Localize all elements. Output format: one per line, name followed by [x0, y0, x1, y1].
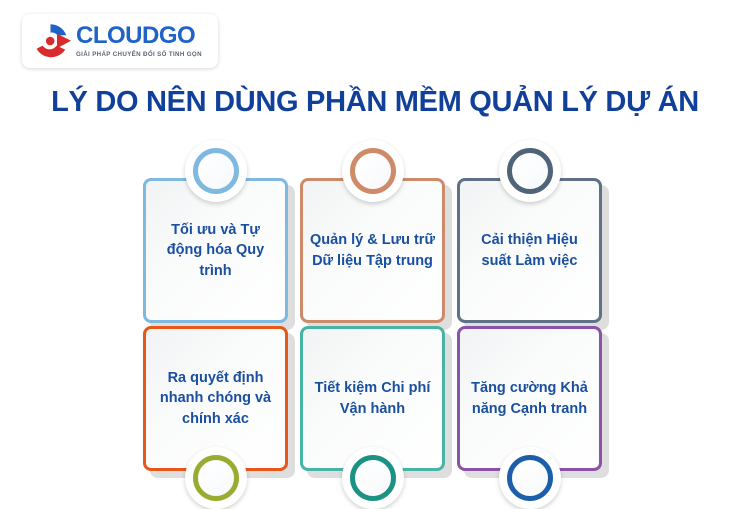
brand-wordmark: CLOUDGO	[76, 24, 202, 48]
brand-tagline: GIẢI PHÁP CHUYỂN ĐỔI SỐ TINH GỌN	[76, 51, 202, 58]
card-label: Ra quyết định nhanh chóng và chính xác	[146, 368, 285, 430]
reason-card-1: Tối ưu và Tự động hóa Quy trình	[143, 178, 288, 323]
card-badge-circle-icon	[185, 140, 247, 202]
brand-logo: CLOUDGO GIẢI PHÁP CHUYỂN ĐỔI SỐ TINH GỌN	[22, 14, 218, 68]
card-badge-ring	[507, 455, 553, 501]
reasons-card-grid: Tối ưu và Tự động hóa Quy trình Quản lý …	[143, 178, 607, 472]
card-badge-ring	[350, 455, 396, 501]
reason-card-4: Ra quyết định nhanh chóng và chính xác	[143, 326, 288, 471]
cloudgo-c-mark-icon	[30, 21, 72, 61]
card-badge-ring	[193, 455, 239, 501]
reason-card-2: Quản lý & Lưu trữ Dữ liệu Tập trung	[300, 178, 445, 323]
reason-card-6: Tăng cường Khả năng Cạnh tranh	[457, 326, 602, 471]
page-title: LÝ DO NÊN DÙNG PHẦN MỀM QUẢN LÝ DỰ ÁN	[0, 86, 750, 119]
card-badge-ring	[350, 148, 396, 194]
reason-card-3: Cải thiện Hiệu suất Làm việc	[457, 178, 602, 323]
card-badge-circle-icon	[499, 140, 561, 202]
card-label: Tối ưu và Tự động hóa Quy trình	[146, 220, 285, 282]
brand-text-block: CLOUDGO GIẢI PHÁP CHUYỂN ĐỔI SỐ TINH GỌN	[76, 24, 202, 58]
card-label: Quản lý & Lưu trữ Dữ liệu Tập trung	[303, 230, 442, 271]
card-badge-circle-icon	[342, 140, 404, 202]
card-label: Cải thiện Hiệu suất Làm việc	[460, 230, 599, 271]
card-badge-ring	[193, 148, 239, 194]
reason-card-5: Tiết kiệm Chi phí Vận hành	[300, 326, 445, 471]
card-label: Tiết kiệm Chi phí Vận hành	[303, 378, 442, 419]
card-label: Tăng cường Khả năng Cạnh tranh	[460, 378, 599, 419]
card-badge-ring	[507, 148, 553, 194]
